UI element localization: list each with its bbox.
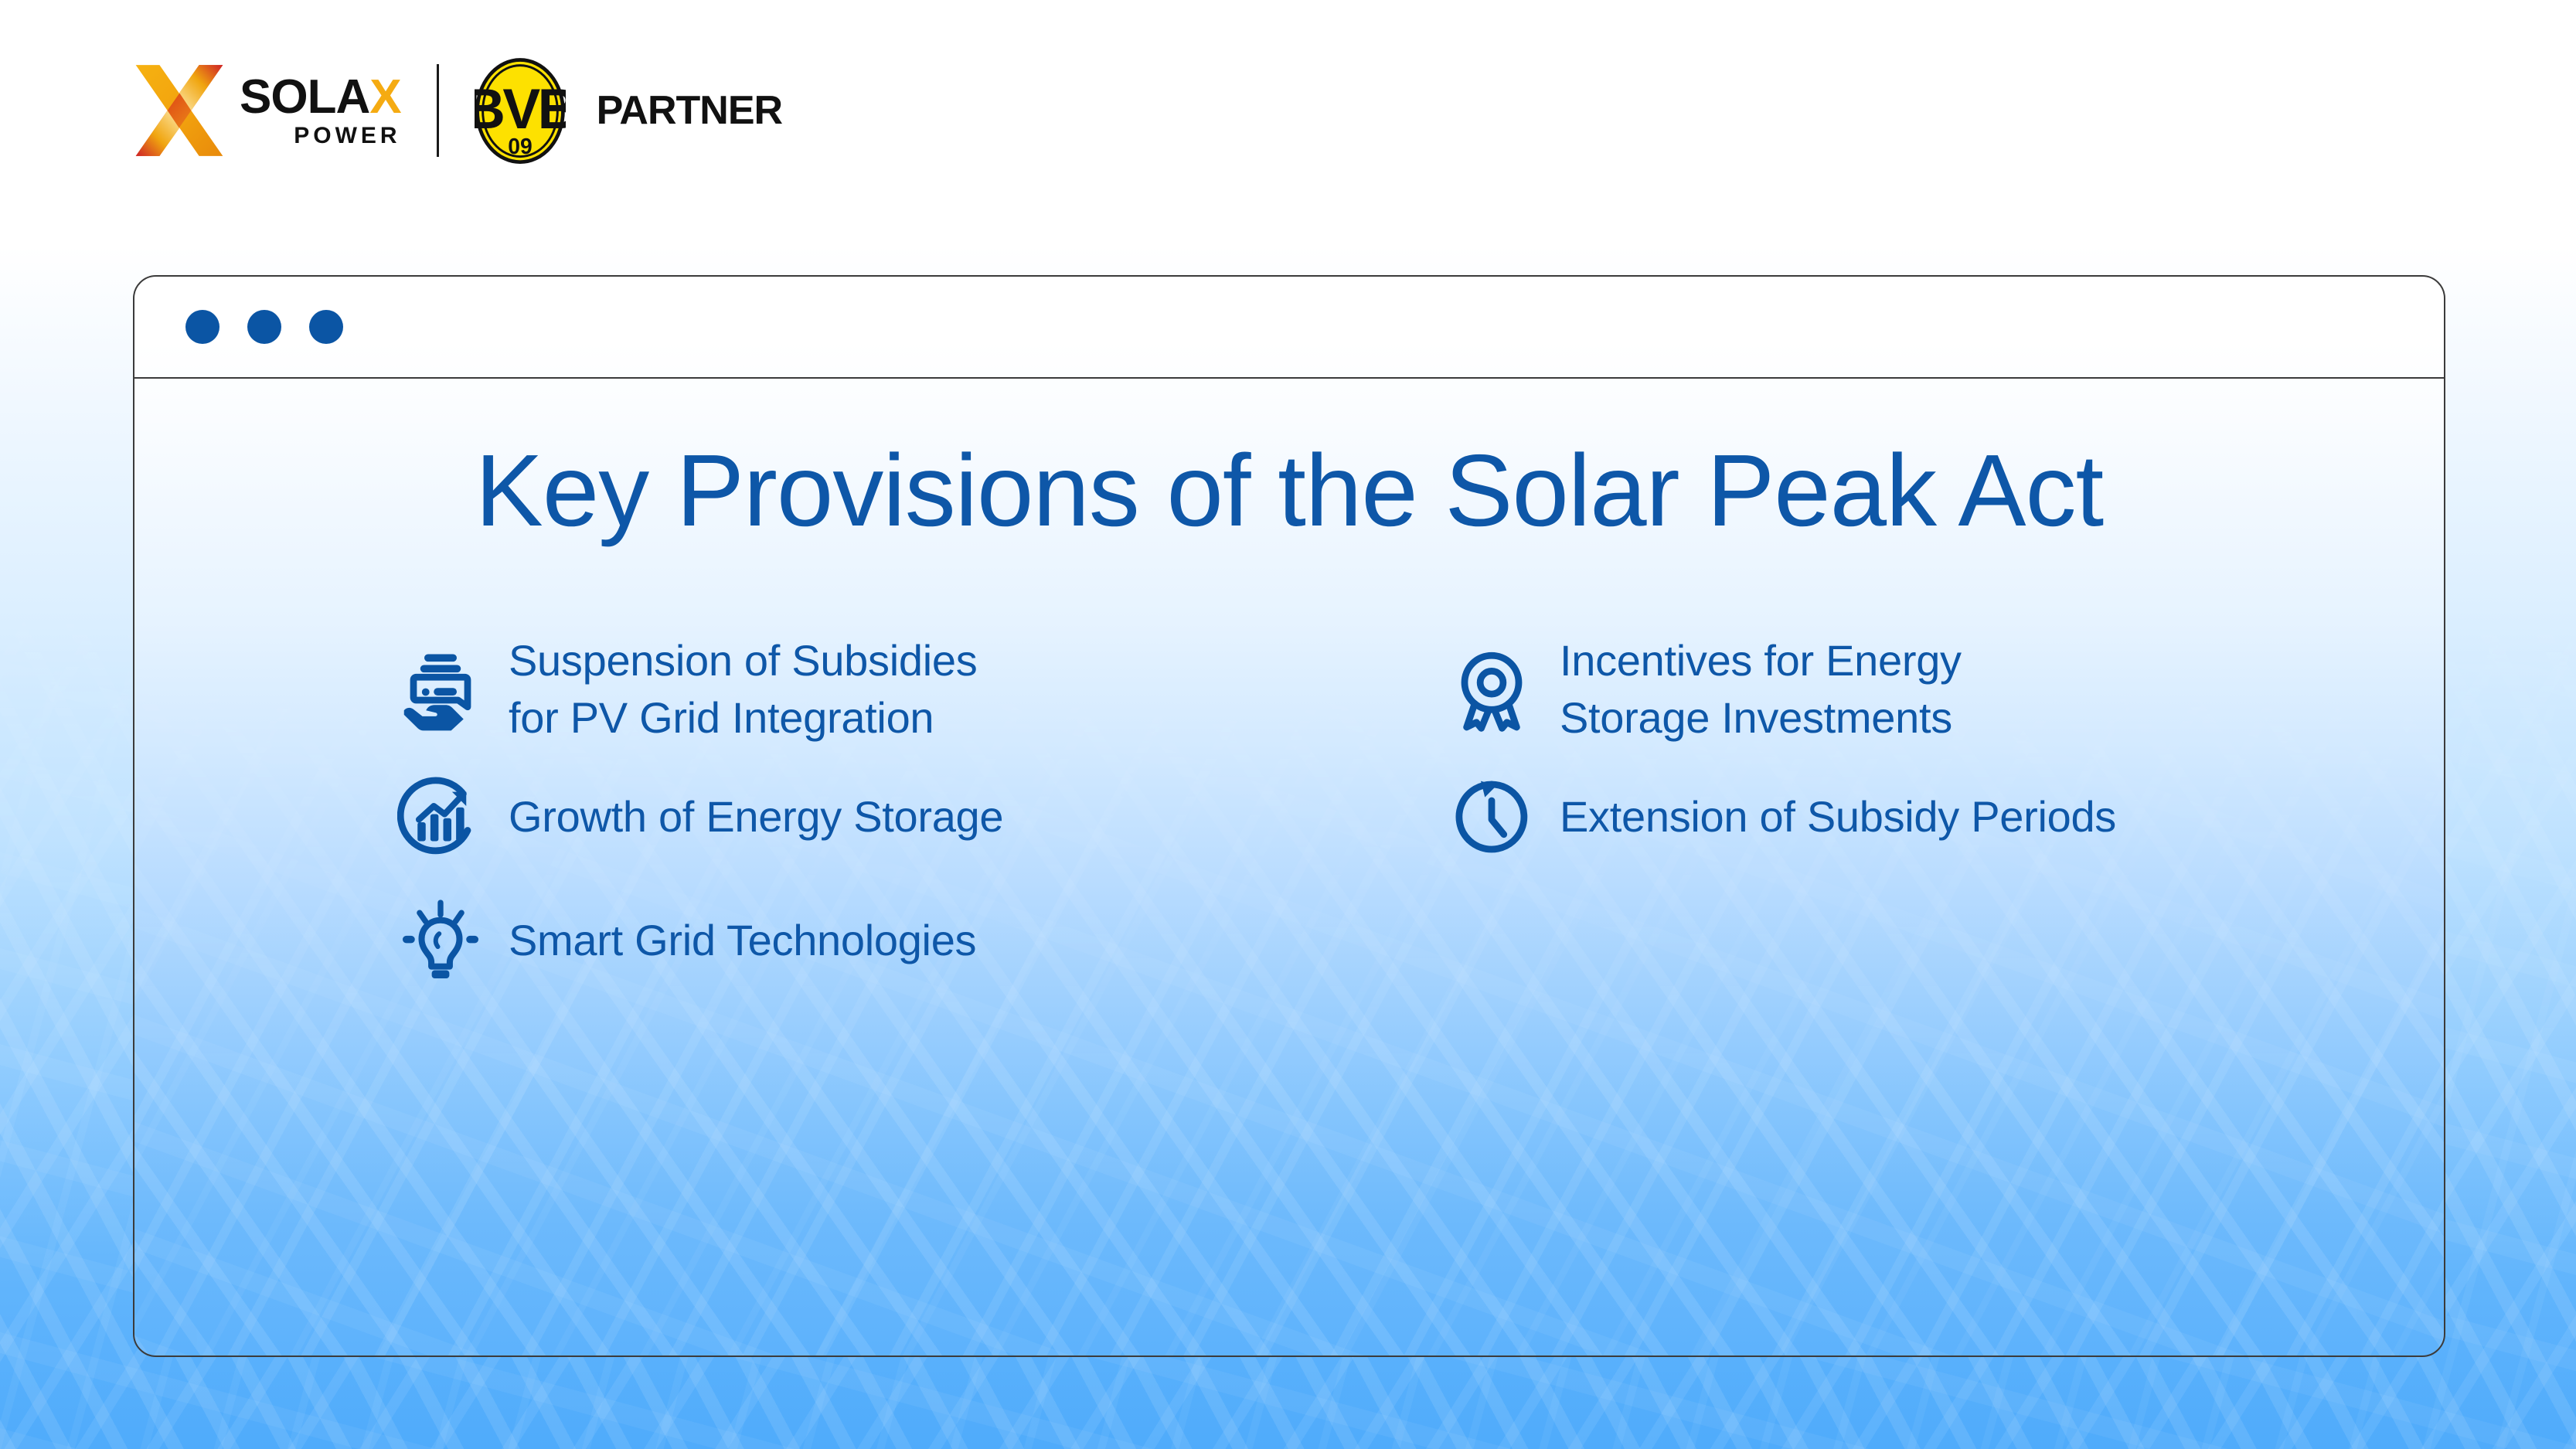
bvb-partner-logo: BVB 09 PARTNER xyxy=(475,57,782,164)
partner-label: PARTNER xyxy=(597,87,782,134)
page-title: Key Provisions of the Solar Peak Act xyxy=(134,434,2444,546)
feature-grid: Suspension of Subsidies for PV Grid Inte… xyxy=(134,624,2444,1002)
feature-label: Smart Grid Technologies xyxy=(509,912,976,969)
feature-item-suspension-of-subsidies[interactable]: Suspension of Subsidies for PV Grid Inte… xyxy=(397,624,1448,755)
growth-chart-icon xyxy=(397,774,484,860)
window-dot-minimize[interactable] xyxy=(247,310,281,344)
feature-item-growth-of-energy-storage[interactable]: Growth of Energy Storage xyxy=(397,755,1448,879)
brand-divider xyxy=(437,64,439,157)
window-dot-close[interactable] xyxy=(185,310,219,344)
solax-wordmark-sub: POWER xyxy=(240,124,401,148)
award-ribbon-icon xyxy=(1448,646,1535,733)
brand-header: SOLAX POWER BVB 09 PARTNER xyxy=(130,60,782,161)
solax-wordmark-main: SOLAX xyxy=(240,73,401,121)
window-controls xyxy=(185,310,343,344)
solax-x-mark-icon xyxy=(130,61,229,160)
card-body: Key Provisions of the Solar Peak Act Sus… xyxy=(134,434,2444,1002)
bvb-crest-icon: BVB 09 xyxy=(475,57,566,164)
lightbulb-idea-icon xyxy=(397,897,484,984)
solax-logo: SOLAX POWER xyxy=(130,61,401,160)
feature-label: Growth of Energy Storage xyxy=(509,788,1003,845)
feature-label: Extension of Subsidy Periods xyxy=(1560,788,2116,845)
solax-wordmark: SOLAX POWER xyxy=(240,73,401,148)
clock-refresh-icon xyxy=(1448,774,1535,860)
hand-holding-document-icon xyxy=(397,646,484,733)
feature-label: Incentives for Energy Storage Investment… xyxy=(1560,632,1962,747)
svg-text:BVB: BVB xyxy=(475,77,566,141)
solax-wordmark-x: X xyxy=(369,70,400,124)
feature-item-smart-grid-technologies[interactable]: Smart Grid Technologies xyxy=(397,879,1448,1002)
svg-text:09: 09 xyxy=(508,134,532,158)
card-titlebar xyxy=(134,277,2444,379)
feature-item-incentives-energy-storage[interactable]: Incentives for Energy Storage Investment… xyxy=(1448,624,2445,755)
feature-item-extension-of-subsidy-periods[interactable]: Extension of Subsidy Periods xyxy=(1448,755,2445,879)
window-dot-maximize[interactable] xyxy=(309,310,343,344)
content-card: Key Provisions of the Solar Peak Act Sus… xyxy=(133,275,2445,1357)
feature-label: Suspension of Subsidies for PV Grid Inte… xyxy=(509,632,977,747)
